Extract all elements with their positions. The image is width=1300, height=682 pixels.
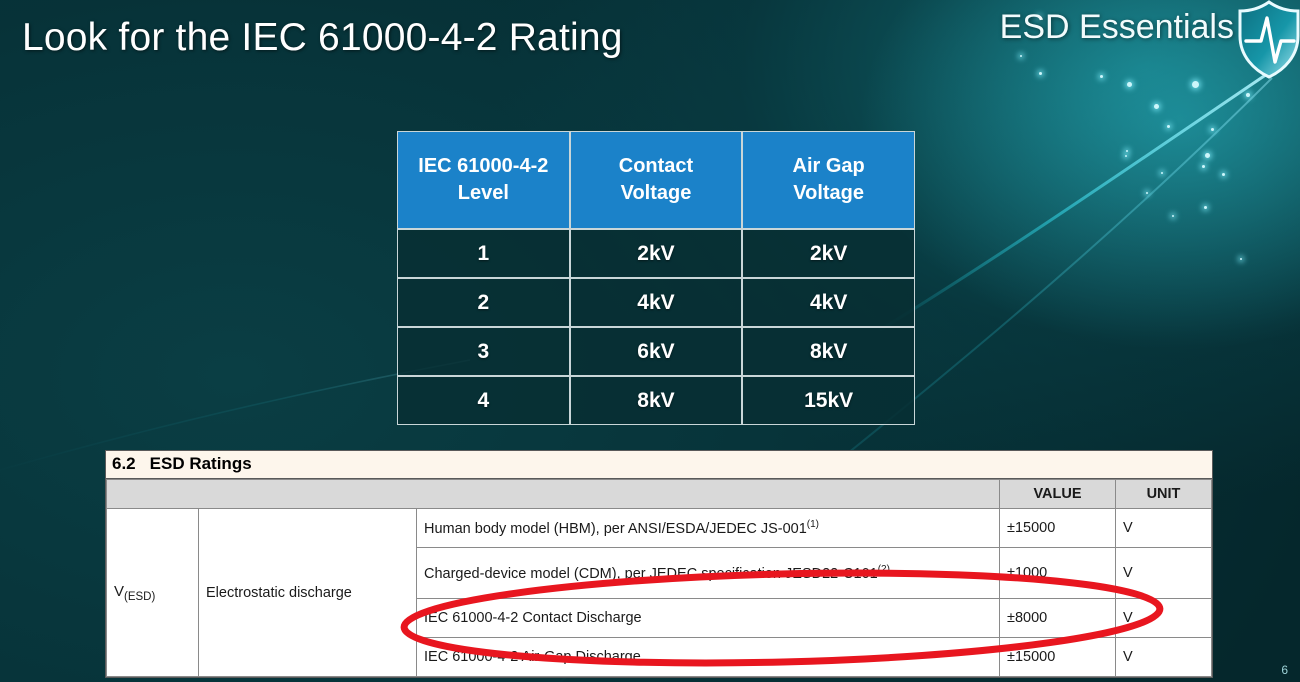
- sparkle-dot: [1205, 153, 1210, 158]
- datasheet-header-row: VALUE UNIT: [107, 480, 1212, 509]
- symbol-subscript: (ESD): [124, 591, 155, 603]
- symbol-cell: V(ESD): [107, 509, 199, 677]
- sparkle-dot: [1167, 125, 1170, 128]
- iec-level-table: IEC 61000-4-2 Level Contact Voltage Air …: [397, 131, 915, 425]
- shield-pulse-icon: [1234, 0, 1300, 80]
- sparkle-dot: [1240, 258, 1242, 260]
- cell-level: 2: [397, 278, 570, 327]
- table-row: 1 2kV 2kV: [397, 229, 915, 278]
- description-cell: Charged-device model (CDM), per JEDEC sp…: [417, 548, 1000, 599]
- header-line-2: Level: [458, 182, 509, 204]
- sparkle-dot: [1127, 82, 1132, 87]
- description-cell: IEC 61000-4-2 Air-Gap Discharge: [417, 638, 1000, 677]
- section-number: 6.2: [112, 454, 136, 473]
- footnote-marker: (2): [878, 564, 890, 575]
- cell-contact: 8kV: [570, 376, 743, 425]
- sparkle-dot: [1246, 93, 1250, 97]
- value-cell: ±1000: [1000, 548, 1116, 599]
- unit-cell: V: [1116, 599, 1212, 638]
- header-value: VALUE: [1000, 480, 1116, 509]
- slide-canvas: Look for the IEC 61000-4-2 Rating ESD Es…: [0, 0, 1300, 682]
- datasheet-section-heading: 6.2ESD Ratings: [106, 451, 1212, 479]
- sparkle-dot: [1146, 192, 1148, 194]
- value-cell: ±15000: [1000, 638, 1116, 677]
- footnote-marker: (1): [807, 519, 819, 530]
- header-unit: UNIT: [1116, 480, 1212, 509]
- brand-label: ESD Essentials: [1000, 8, 1234, 47]
- header-line-2: Voltage: [621, 182, 692, 204]
- table-row: 3 6kV 8kV: [397, 327, 915, 376]
- sparkle-dot: [1125, 155, 1127, 157]
- cell-airgap: 4kV: [742, 278, 915, 327]
- sparkle-dot: [1211, 128, 1214, 131]
- value-cell: ±8000: [1000, 599, 1116, 638]
- level-table-header-row: IEC 61000-4-2 Level Contact Voltage Air …: [397, 131, 915, 229]
- table-row: 2 4kV 4kV: [397, 278, 915, 327]
- sparkle-dot: [1222, 173, 1225, 176]
- cell-level: 3: [397, 327, 570, 376]
- level-table-header-airgap: Air Gap Voltage: [742, 131, 915, 229]
- cell-airgap: 8kV: [742, 327, 915, 376]
- header-line-1: IEC 61000-4-2: [418, 155, 548, 177]
- cell-contact: 2kV: [570, 229, 743, 278]
- sparkle-dot: [1039, 72, 1042, 75]
- datasheet-excerpt: 6.2ESD Ratings VALUE UNIT V(ESD) Electro…: [105, 450, 1213, 678]
- description-cell: IEC 61000-4-2 Contact Discharge: [417, 599, 1000, 638]
- sparkle-dot: [1204, 206, 1207, 209]
- parameter-cell: Electrostatic discharge: [199, 509, 417, 677]
- level-table-header-level: IEC 61000-4-2 Level: [397, 131, 570, 229]
- table-row: V(ESD) Electrostatic discharge Human bod…: [107, 509, 1212, 548]
- sparkle-dot: [1154, 104, 1159, 109]
- value-cell: ±15000: [1000, 509, 1116, 548]
- cell-contact: 6kV: [570, 327, 743, 376]
- cell-contact: 4kV: [570, 278, 743, 327]
- sparkle-dot: [1202, 165, 1205, 168]
- cell-level: 1: [397, 229, 570, 278]
- sparkle-dot: [1161, 172, 1163, 174]
- sparkle-dot: [1020, 55, 1022, 57]
- header-line-2: Voltage: [793, 182, 864, 204]
- page-title: Look for the IEC 61000-4-2 Rating: [22, 16, 623, 60]
- esd-ratings-table: VALUE UNIT V(ESD) Electrostatic discharg…: [106, 479, 1212, 677]
- unit-cell: V: [1116, 548, 1212, 599]
- description-cell: Human body model (HBM), per ANSI/ESDA/JE…: [417, 509, 1000, 548]
- cell-airgap: 15kV: [742, 376, 915, 425]
- unit-cell: V: [1116, 509, 1212, 548]
- header-blank: [107, 480, 1000, 509]
- section-title: ESD Ratings: [150, 454, 252, 473]
- sparkle-dot: [1126, 150, 1128, 152]
- level-table-header-contact: Contact Voltage: [570, 131, 743, 229]
- cell-level: 4: [397, 376, 570, 425]
- description-text: Human body model (HBM), per ANSI/ESDA/JE…: [424, 521, 807, 537]
- page-number: 6: [1281, 663, 1288, 677]
- description-text: Charged-device model (CDM), per JEDEC sp…: [424, 565, 878, 581]
- sparkle-dot: [1100, 75, 1103, 78]
- sparkle-dot: [1172, 215, 1174, 217]
- table-row: 4 8kV 15kV: [397, 376, 915, 425]
- header-line-1: Contact: [619, 155, 693, 177]
- cell-airgap: 2kV: [742, 229, 915, 278]
- symbol-text: V: [114, 583, 124, 600]
- unit-cell: V: [1116, 638, 1212, 677]
- header-line-1: Air Gap: [793, 155, 865, 177]
- sparkle-dot: [1192, 81, 1199, 88]
